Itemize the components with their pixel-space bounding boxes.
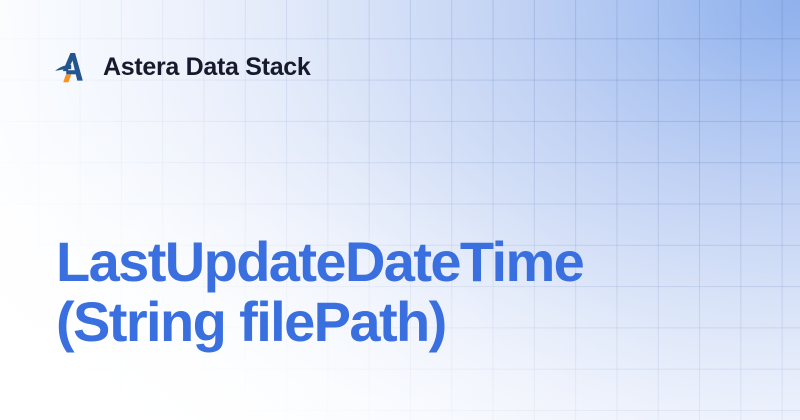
page-title-line-1: LastUpdateDateTime xyxy=(56,232,583,292)
brand-lockup: Astera Data Stack xyxy=(52,48,311,86)
page-title-line-2: (String filePath) xyxy=(56,292,583,352)
page-title: LastUpdateDateTime (String filePath) xyxy=(56,232,583,353)
astera-a-logo-icon xyxy=(52,48,90,86)
banner: Astera Data Stack LastUpdateDateTime (St… xyxy=(0,0,800,420)
brand-name: Astera Data Stack xyxy=(103,55,311,80)
